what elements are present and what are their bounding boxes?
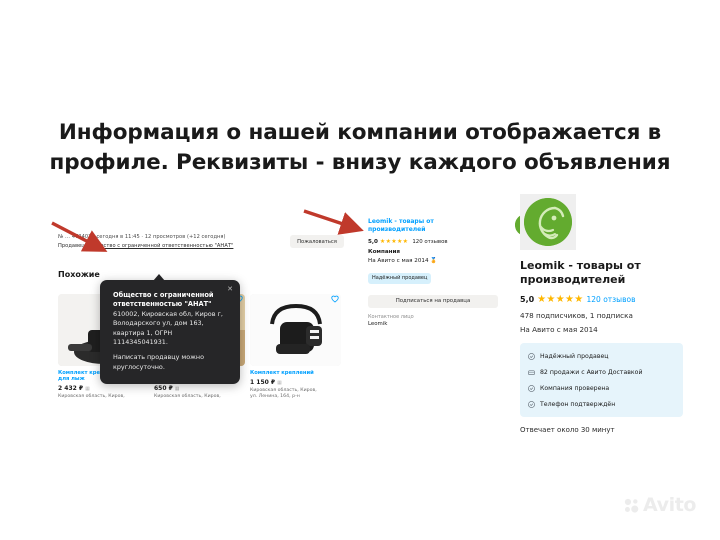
- star-icons: ★★★★★: [380, 238, 408, 245]
- profile-badge: 82 продажи с Авито Доставкой: [520, 364, 683, 380]
- product-price: 2 432 ₽▦: [58, 385, 149, 392]
- product-address: Кировская область, Киров,: [58, 394, 144, 400]
- profile-badge-label: 82 продажи с Авито Доставкой: [540, 369, 642, 376]
- lion-head-logo: [524, 198, 572, 246]
- tooltip-address-line-1: 610002, Кировская обл, Киров г,: [113, 310, 228, 319]
- seller-info-panel: Leomik - товары от производителей 5,0 ★★…: [368, 218, 498, 327]
- delivery-icon: ▦: [277, 380, 282, 386]
- profile-badge-label: Компания проверена: [540, 385, 609, 392]
- red-arrow-icon: [50, 220, 120, 258]
- star-icons: ★★★★★: [537, 294, 583, 305]
- delivery-icon: ▦: [175, 386, 180, 392]
- tooltip-address-line-2: Володарского ул, дом 163,: [113, 319, 228, 328]
- tooltip-note-line-1: Написать продавцу можно: [113, 353, 228, 362]
- check-circle-icon: [528, 353, 535, 360]
- subscribe-button[interactable]: Подписаться на продавца: [368, 295, 498, 308]
- close-icon[interactable]: ✕: [227, 286, 233, 293]
- seller-since: На Авито с мая 2014 🏅: [368, 258, 498, 264]
- profile-subscribers: 478 подписчиков, 1 подписка: [520, 311, 695, 320]
- tooltip-title-line-1: Общество с ограниченной: [113, 291, 228, 300]
- check-circle-icon: [528, 401, 535, 408]
- tooltip-note-line-2: круглосуточно.: [113, 363, 228, 372]
- reviews-count[interactable]: 120 отзывов: [587, 295, 636, 304]
- contact-person-name: Leomik: [368, 321, 498, 327]
- page-title: Информация о нашей компании отображается…: [0, 118, 720, 178]
- profile-since: На Авито с мая 2014: [520, 325, 695, 334]
- avito-logo-icon: [623, 497, 640, 514]
- heart-icon[interactable]: [331, 295, 339, 303]
- rating-value: 5,0: [520, 295, 534, 304]
- profile-name-line-2: производителей: [520, 273, 625, 286]
- embedded-screenshot: № ... 473402 · сегодня в 11:45 · 12 прос…: [50, 196, 700, 422]
- profile-badge: Компания проверена: [520, 380, 683, 396]
- seller-details-tooltip: ✕ Общество с ограниченной ответственност…: [100, 280, 240, 384]
- profile-badge: Надёжный продавец: [520, 348, 683, 364]
- black-ski-binding-photo: [250, 294, 341, 366]
- profile-badge: Телефон подтверждён: [520, 396, 683, 412]
- reviews-count[interactable]: 120 отзывов: [412, 239, 447, 245]
- profile-name: Leomik - товары от производителей: [520, 259, 670, 287]
- trusted-seller-badge: Надёжный продавец: [368, 273, 431, 284]
- avito-watermark-text: Avito: [643, 494, 696, 516]
- profile-reply-time: Отвечает около 30 минут: [520, 426, 695, 434]
- red-arrow-icon: [302, 208, 374, 238]
- delivery-icon: ▦: [85, 386, 90, 392]
- profile-rating: 5,0 ★★★★★ 120 отзывов: [520, 294, 695, 305]
- profile-name-line-1: Leomik - товары от: [520, 259, 641, 272]
- product-address: Кировская область, Киров,: [154, 394, 240, 400]
- similar-heading: Похожие: [58, 270, 100, 279]
- seller-rating: 5,0 ★★★★★ 120 отзывов: [368, 238, 498, 245]
- seller-name-link[interactable]: Leomik - товары от производителей: [368, 218, 440, 234]
- seller-type-label: Компания: [368, 249, 498, 255]
- profile-logo-container: [520, 194, 576, 250]
- product-price: 1 150 ₽▦: [250, 379, 341, 386]
- product-thumbnail[interactable]: [250, 294, 341, 366]
- medal-icon: 🏅: [430, 258, 437, 264]
- profile-badge-label: Телефон подтверждён: [540, 401, 615, 408]
- product-address: Кировская область, Киров, ул. Ленина, 16…: [250, 388, 336, 400]
- page-title-line-1: Информация о нашей компании отображается…: [0, 118, 720, 148]
- profile-badge-label: Надёжный продавец: [540, 353, 609, 360]
- product-title-line-2: для лыж: [58, 376, 85, 382]
- company-logo-icon: [524, 198, 572, 246]
- rating-value: 5,0: [368, 239, 378, 245]
- product-card[interactable]: Комплект креплений 1 150 ₽▦ Кировская об…: [250, 294, 341, 400]
- tooltip-title-line-2: ответственностью "АНАТ": [113, 300, 228, 309]
- profile-badge-list: Надёжный продавец 82 продажи с Авито Дос…: [520, 343, 683, 417]
- check-circle-icon: [528, 385, 535, 392]
- product-title[interactable]: Комплект креплений: [250, 370, 322, 376]
- avito-watermark: Avito: [623, 494, 696, 516]
- seller-profile-panel: Leomik - товары от производителей 5,0 ★★…: [520, 194, 695, 434]
- page-title-line-2: профиле. Реквизиты - внизу каждого объяв…: [0, 148, 720, 178]
- delivery-box-icon: [528, 369, 535, 376]
- tooltip-address-line-3: квартира 1, ОГРН 1114345041931.: [113, 329, 228, 348]
- contact-person-label: Контактное лицо: [368, 314, 498, 320]
- product-title-line-1: Комплект креплений: [250, 370, 314, 376]
- product-price: 650 ₽▦: [154, 385, 245, 392]
